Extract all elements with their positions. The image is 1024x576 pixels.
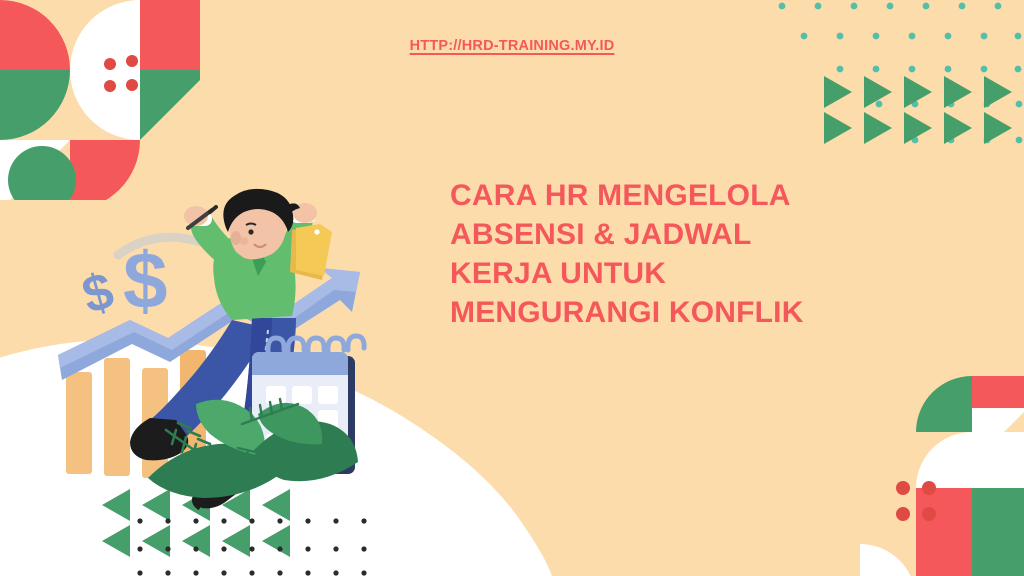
calendar-spiral-rings — [268, 336, 364, 352]
headline-line-3: KERJA UNTUK — [450, 254, 890, 293]
banner-canvas: $ $ — [0, 0, 1024, 576]
headline-line-2: ABSENSI & JADWAL — [450, 215, 890, 254]
headline-line-1: CARA HR MENGELOLA — [450, 176, 890, 215]
headline-block: CARA HR MENGELOLA ABSENSI & JADWAL KERJA… — [450, 176, 890, 332]
site-url-link[interactable]: HTTP://HRD-TRAINING.MY.ID — [0, 38, 1024, 54]
headline-line-4: MENGURANGI KONFLIK — [450, 293, 890, 332]
dollar-sign-small-icon: $ — [76, 262, 120, 326]
svg-text:$: $ — [76, 262, 120, 326]
